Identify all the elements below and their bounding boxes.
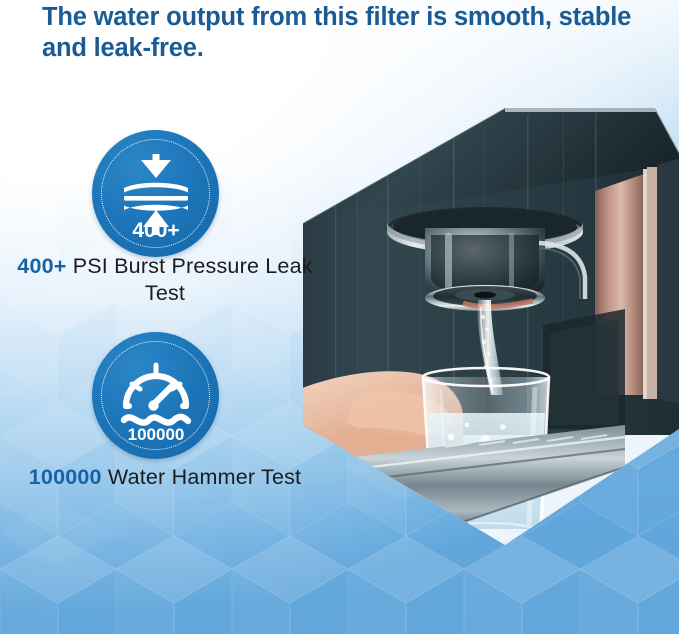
- caption-burst-pressure: 400+ PSI Burst Pressure Leak Test: [15, 253, 315, 307]
- badge-value-text: 100000: [127, 425, 184, 443]
- caption-text: Water Hammer Test: [102, 465, 302, 489]
- badge-value-text: 400+: [132, 219, 179, 240]
- marketing-infographic: The water output from this filter is smo…: [0, 0, 679, 634]
- caption-number: 400+: [17, 254, 66, 278]
- water-dispenser-filling-glass-photo: [295, 95, 679, 555]
- badge-water-hammer: 100000: [92, 332, 219, 459]
- caption-number: 100000: [29, 465, 102, 489]
- pressure-compression-arrows-icon: 400+: [110, 148, 202, 240]
- badge-burst-pressure: 400+: [92, 130, 219, 257]
- gauge-water-wave-icon: 100000: [109, 349, 203, 443]
- caption-water-hammer: 100000 Water Hammer Test: [15, 464, 315, 491]
- caption-text: PSI Burst Pressure Leak Test: [67, 254, 313, 305]
- page-title: The water output from this filter is smo…: [42, 2, 642, 64]
